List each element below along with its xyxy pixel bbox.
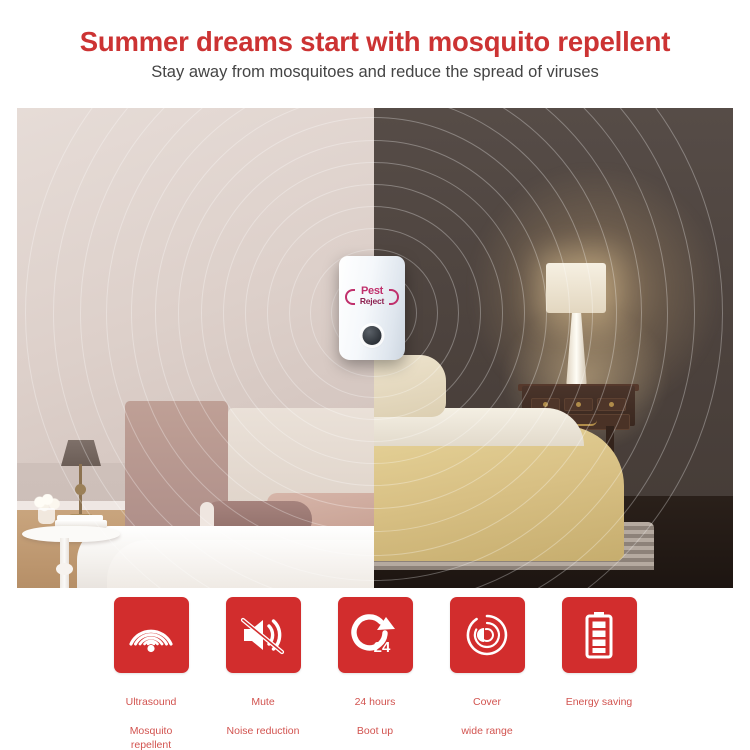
feature-item-24-hours[interactable]: 24 24 hours Boot up bbox=[338, 597, 413, 750]
feature-row: Ultrasound Mosquito repellent Mute Noi bbox=[0, 597, 750, 750]
battery-icon-tile[interactable] bbox=[562, 597, 637, 673]
flower-vase bbox=[38, 508, 55, 524]
side-table-knob bbox=[56, 563, 73, 575]
device-indicator-button[interactable] bbox=[363, 326, 382, 345]
feature-line1: Mute bbox=[251, 696, 274, 708]
feature-line2: Noise reduction bbox=[227, 725, 300, 737]
feature-item-energy-saving[interactable]: Energy saving bbox=[562, 597, 637, 750]
feature-item-mute[interactable]: Mute Noise reduction bbox=[226, 597, 301, 750]
24-hours-rotation-icon-tile[interactable]: 24 bbox=[338, 597, 413, 673]
white-bed-sheet bbox=[107, 540, 374, 588]
feature-line1: Ultrasound bbox=[126, 696, 177, 708]
feature-line2: Mosquito repellent bbox=[130, 725, 173, 750]
feature-line2: wide range bbox=[461, 725, 512, 737]
ultrasound-wave-icon-tile[interactable] bbox=[114, 597, 189, 673]
drawer-knob-3 bbox=[609, 402, 614, 407]
left-lamp-ornament bbox=[75, 484, 86, 495]
feature-line1: Energy saving bbox=[566, 696, 633, 708]
device-brand-logo: Pest Reject bbox=[339, 286, 405, 306]
feature-item-cover[interactable]: Cover wide range bbox=[450, 597, 525, 750]
feature-label-energy-saving: Energy saving bbox=[562, 681, 637, 709]
promo-page: Summer dreams start with mosquito repell… bbox=[0, 0, 750, 750]
feature-label-ultrasound: Ultrasound Mosquito repellent bbox=[114, 681, 189, 750]
gold-bedspread bbox=[374, 426, 624, 561]
feature-label-mute: Mute Noise reduction bbox=[226, 681, 301, 738]
drawer-knob-1 bbox=[543, 402, 548, 407]
hero-photo: Pest Reject bbox=[17, 108, 733, 588]
24-hours-rotation-icon: 24 bbox=[351, 613, 399, 657]
round-side-table-top bbox=[22, 526, 120, 542]
feature-item-ultrasound[interactable]: Ultrasound Mosquito repellent bbox=[114, 597, 189, 750]
pest-reject-device[interactable]: Pest Reject bbox=[339, 256, 405, 360]
feature-line2: Boot up bbox=[357, 725, 393, 737]
coverage-circle-icon-tile[interactable] bbox=[450, 597, 525, 673]
page-subtitle: Stay away from mosquitoes and reduce the… bbox=[0, 63, 750, 82]
battery-icon bbox=[582, 611, 616, 659]
feature-line1: Cover bbox=[473, 696, 501, 708]
right-lamp-shade bbox=[546, 263, 606, 313]
24-hours-badge-text: 24 bbox=[374, 639, 391, 656]
feature-label-cover: Cover wide range bbox=[450, 681, 525, 738]
feature-line1: 24 hours bbox=[355, 696, 396, 708]
drawer-knob-2 bbox=[576, 402, 581, 407]
device-brand-line2: Reject bbox=[339, 297, 405, 306]
coverage-circle-icon bbox=[464, 613, 510, 657]
mute-speaker-icon-tile[interactable] bbox=[226, 597, 301, 673]
bright-bedroom-half bbox=[17, 108, 374, 588]
right-pillow bbox=[374, 355, 446, 417]
ultrasound-wave-icon bbox=[127, 613, 175, 657]
dark-bedroom-half bbox=[374, 108, 733, 588]
mute-speaker-icon bbox=[240, 613, 286, 657]
page-title: Summer dreams start with mosquito repell… bbox=[0, 26, 750, 58]
feature-label-24-hours: 24 hours Boot up bbox=[338, 681, 413, 738]
